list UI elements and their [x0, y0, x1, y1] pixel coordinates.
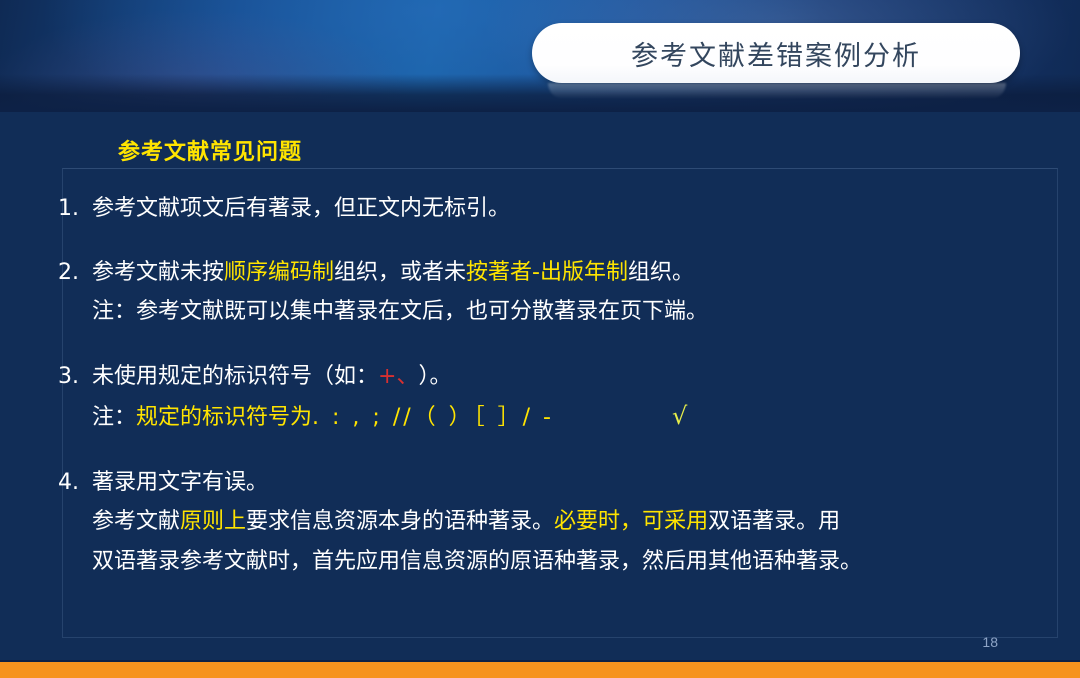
list-item-text-seg1: 未使用规定的标识符号（如： [92, 358, 378, 396]
list-item: 3. 未使用规定的标识符号（如： + 、 ）。 注： 规定的标识符号为 . : … [58, 358, 1058, 438]
list-item-highlight-2: 按著者-出版年制 [466, 254, 628, 292]
list-item: 1. 参考文献项文后有著录，但正文内无标引。 [58, 190, 1058, 228]
page-number: 18 [982, 634, 998, 650]
list-item-text-seg2: 组织，或者未 [334, 254, 466, 292]
list-item-line: 4. 著录用文字有误。 [58, 464, 1058, 502]
forbidden-symbol-plus: + [378, 358, 396, 396]
list-item-text-seg3: 组织。 [628, 254, 694, 292]
problem-list: 1. 参考文献项文后有著录，但正文内无标引。 2. 参考文献未按 顺序编码制 组… [58, 190, 1058, 608]
list-item-number: 2. [58, 254, 92, 292]
title-chip-reflection [548, 83, 1006, 99]
note-highlight: 规定的标识符号为 [136, 398, 312, 438]
list-item: 2. 参考文献未按 顺序编码制 组织，或者未 按著者-出版年制 组织。 注：参考… [58, 254, 1058, 332]
list-item-text-seg1: 参考文献未按 [92, 254, 224, 292]
list-item-line: 3. 未使用规定的标识符号（如： + 、 ）。 [58, 358, 1058, 396]
subline-highlight-2: 必要时， [554, 502, 642, 542]
subline-seg2: 要求信息资源本身的语种著录。 [246, 502, 554, 542]
list-item-text: 参考文献项文后有著录，但正文内无标引。 [92, 190, 510, 228]
list-item-line: 2. 参考文献未按 顺序编码制 组织，或者未 按著者-出版年制 组织。 [58, 254, 1058, 292]
subline-highlight-1: 原则上 [180, 502, 246, 542]
slide-title-chip: 参考文献差错案例分析 [532, 23, 1020, 83]
subline-seg1: 参考文献 [92, 502, 180, 542]
list-item-number: 4. [58, 464, 92, 502]
list-item-note: 注：参考文献既可以集中著录在文后，也可分散著录在页下端。 [58, 292, 1058, 332]
list-item-text: 著录用文字有误。 [92, 464, 268, 502]
subline-highlight-3: 可采用 [642, 502, 708, 542]
note-label: 注： [92, 398, 136, 438]
footer-orange-bar [0, 662, 1080, 678]
list-item-text-seg2: ）。 [418, 358, 451, 396]
forbidden-symbol-dun: 、 [396, 358, 418, 396]
allowed-symbols: . : , ; //（ ）［ ］/ - [312, 398, 554, 438]
slide-root: 参考文献差错案例分析 参考文献常见问题 1. 参考文献项文后有著录，但正文内无标… [0, 0, 1080, 678]
list-item-subline-2: 双语著录参考文献时，首先应用信息资源的原语种著录，然后用其他语种著录。 [58, 542, 1058, 582]
check-mark-icon: √ [672, 396, 687, 436]
list-item: 4. 著录用文字有误。 参考文献 原则上 要求信息资源本身的语种著录。 必要时，… [58, 464, 1058, 582]
list-item-number: 3. [58, 358, 92, 396]
list-item-note: 注： 规定的标识符号为 . : , ; //（ ）［ ］/ - √ [58, 396, 1058, 438]
list-item-line: 1. 参考文献项文后有著录，但正文内无标引。 [58, 190, 1058, 228]
list-item-highlight-1: 顺序编码制 [224, 254, 334, 292]
list-item-subline-1: 参考文献 原则上 要求信息资源本身的语种著录。 必要时， 可采用 双语著录。用 [58, 502, 1058, 542]
subline-seg3: 双语著录。用 [708, 502, 840, 542]
page-title: 参考文献差错案例分析 [631, 34, 921, 73]
section-heading: 参考文献常见问题 [118, 134, 302, 166]
list-item-number: 1. [58, 190, 92, 228]
